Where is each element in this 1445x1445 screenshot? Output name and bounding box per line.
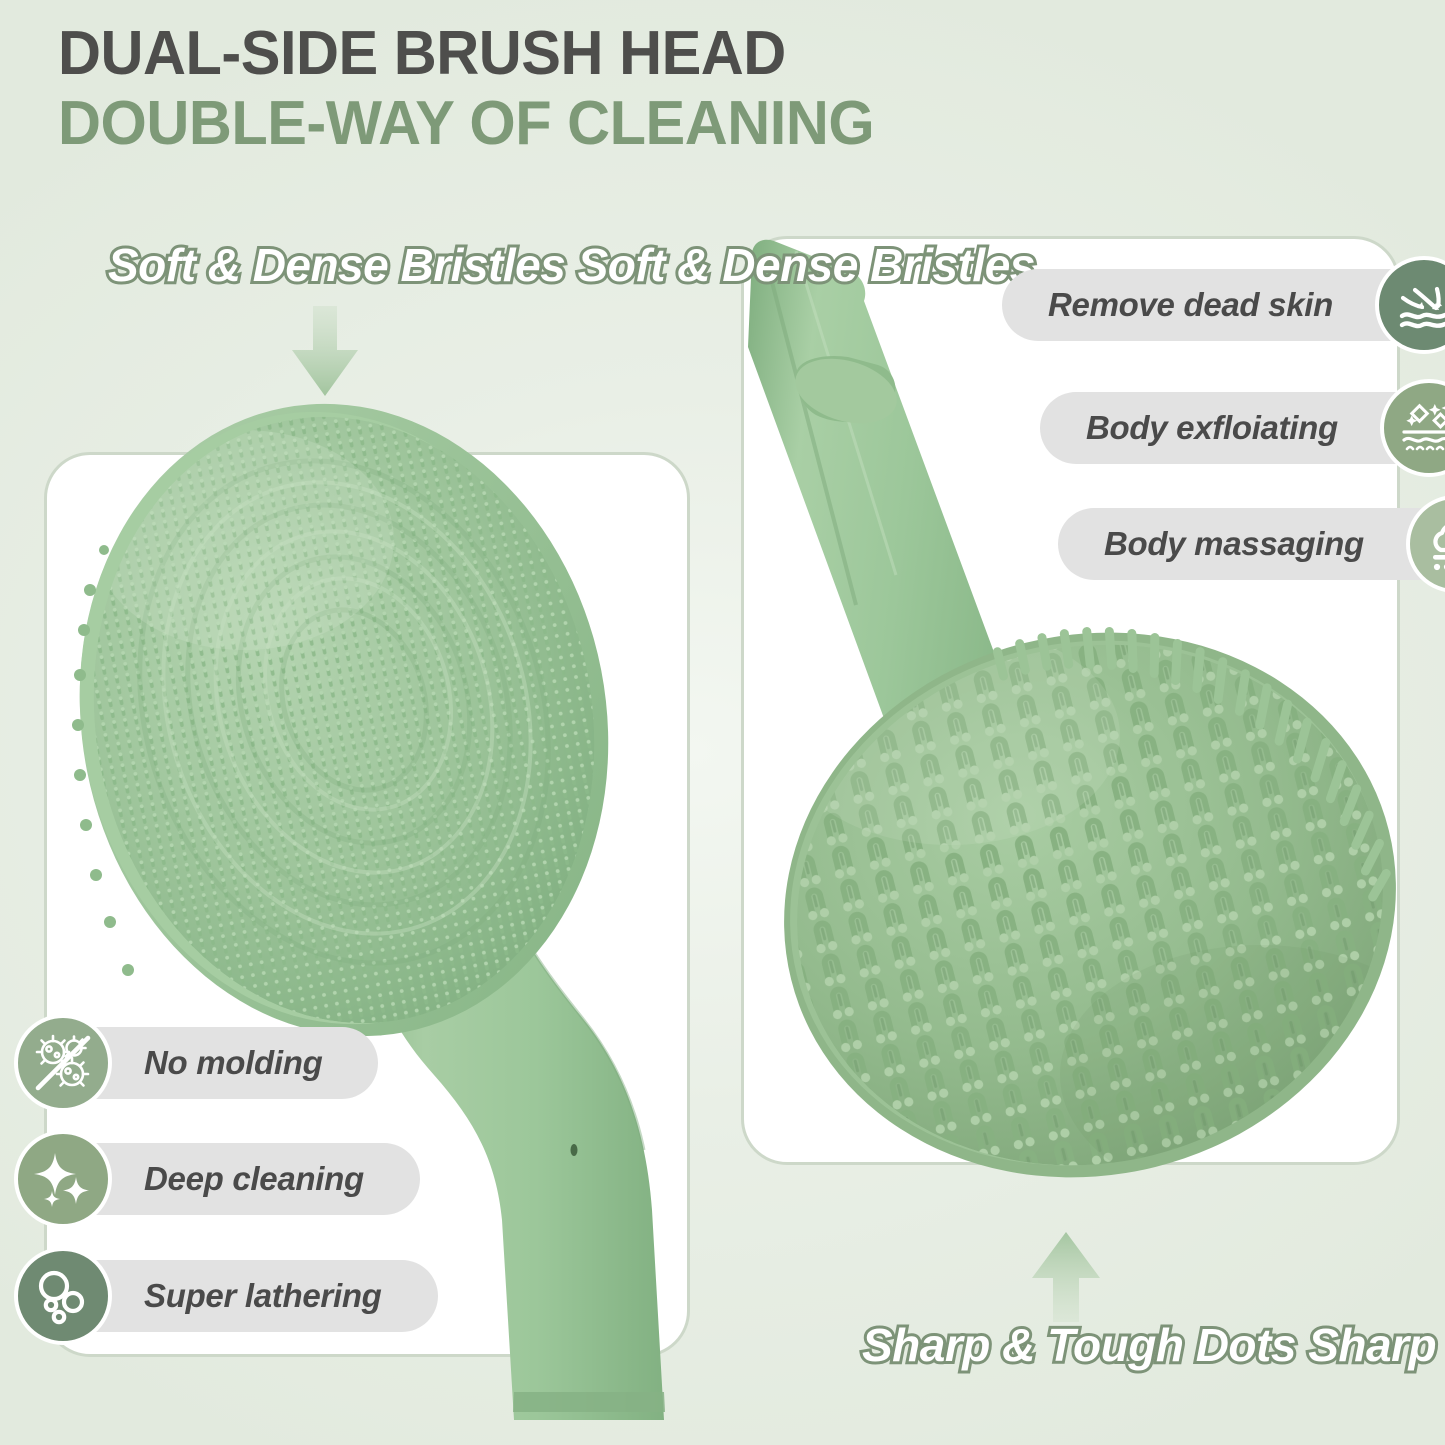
- feature-label-body-exfloiating: Body exfloiating: [1040, 392, 1396, 464]
- feature-pill-body-exfloiating[interactable]: Body exfloiating: [1040, 392, 1445, 464]
- feature-label-body-massaging: Body massaging: [1058, 508, 1422, 580]
- callout-soft-bristles: Soft & Dense Bristles Soft & Dense Brist…: [108, 238, 1035, 292]
- sparkles-icon: [14, 1130, 112, 1228]
- callout-tough-dots: Sharp & Tough Dots Sharp & Tough Dots: [862, 1318, 1445, 1372]
- bubbles-icon: [14, 1247, 112, 1345]
- tough-dot-brush-image: [700, 215, 1420, 1225]
- feature-pill-super-lathering[interactable]: Super lathering: [14, 1260, 438, 1332]
- arrow-down-icon: [286, 306, 364, 398]
- feature-label-deep-cleaning: Deep cleaning: [94, 1143, 420, 1215]
- callout-soft-bristles-label: Soft & Dense Bristles: [578, 239, 1035, 291]
- no-bacteria-icon: [14, 1014, 112, 1112]
- callout-tough-dots-label: Sharp & Tough Dots: [1308, 1319, 1445, 1371]
- feature-pill-body-massaging[interactable]: Body massaging: [1058, 508, 1445, 580]
- callout-tough-dots-stroke: Sharp & Tough Dots: [862, 1319, 1296, 1371]
- arrow-up-icon: [1030, 1232, 1102, 1322]
- feature-label-super-lathering: Super lathering: [94, 1260, 438, 1332]
- feature-pill-deep-cleaning[interactable]: Deep cleaning: [14, 1143, 420, 1215]
- feature-pill-no-molding[interactable]: No molding: [14, 1027, 378, 1099]
- feature-label-no-molding: No molding: [94, 1027, 378, 1099]
- feature-pill-remove-dead-skin[interactable]: Remove dead skin: [1002, 269, 1445, 341]
- callout-soft-bristles-stroke: Soft & Dense Bristles: [108, 239, 565, 291]
- page-title: DUAL-SIDE BRUSH HEAD DOUBLE-WAY OF CLEAN…: [58, 22, 1258, 156]
- headline-primary: DUAL-SIDE BRUSH HEAD: [58, 22, 1210, 85]
- headline-secondary: DOUBLE-WAY OF CLEANING: [58, 91, 1210, 156]
- feature-label-remove-dead-skin: Remove dead skin: [1002, 269, 1391, 341]
